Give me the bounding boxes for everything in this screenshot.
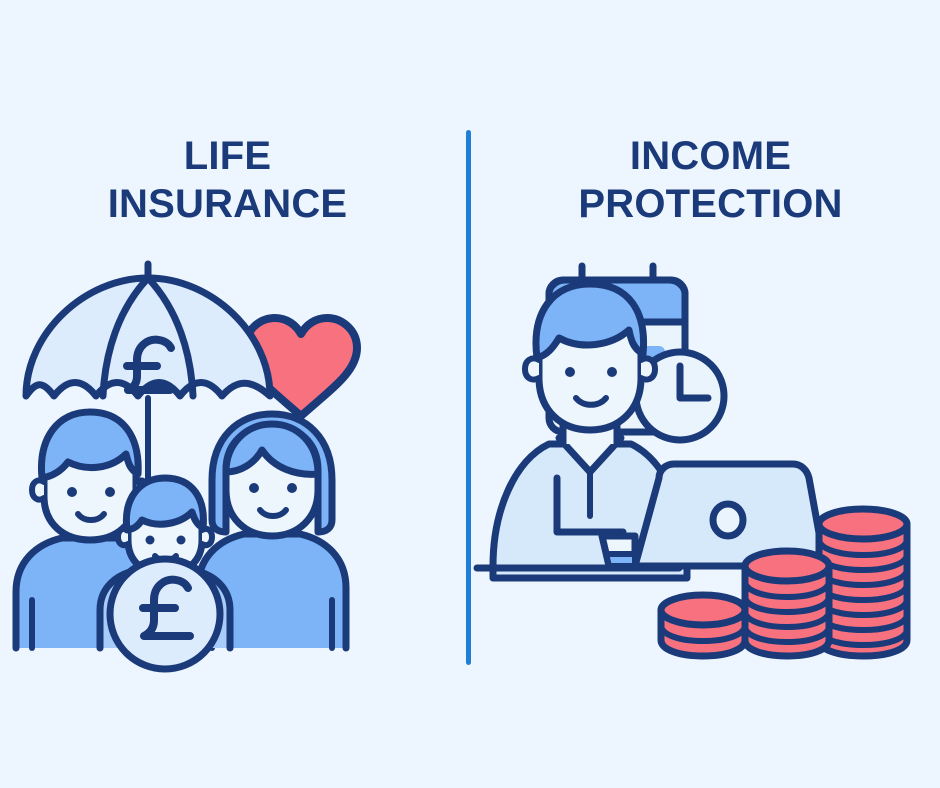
pound-coin-icon: [110, 559, 220, 669]
panel-life-insurance: LIFE INSURANCE: [0, 0, 467, 788]
man-at-laptop-with-coins-svg: [473, 248, 940, 688]
family-under-umbrella-svg: [0, 248, 467, 688]
coin-stack-short: [661, 595, 745, 656]
page-title-life-insurance: LIFE INSURANCE: [0, 132, 467, 228]
panel-income-protection: INCOME PROTECTION: [473, 0, 940, 788]
coin-stack-medium: [745, 551, 829, 656]
family-under-umbrella-illustration: [0, 248, 467, 688]
man-at-laptop-with-coins-illustration: [473, 248, 940, 688]
infographic-canvas: LIFE INSURANCE: [0, 0, 940, 788]
page-title-income-protection: INCOME PROTECTION: [473, 132, 940, 228]
vertical-divider: [466, 130, 471, 665]
